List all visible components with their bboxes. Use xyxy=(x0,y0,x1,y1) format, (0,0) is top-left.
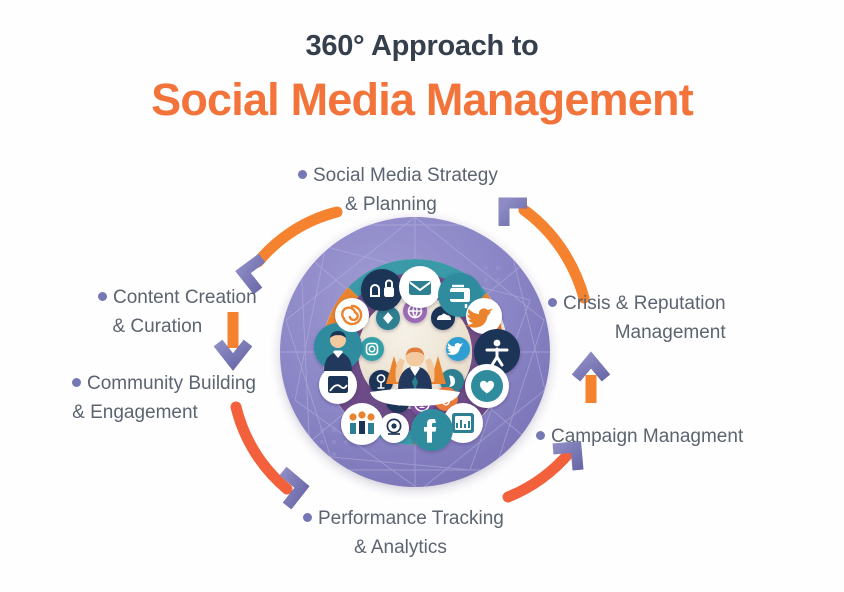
step-label-strategy-line1: Social Media Strategy xyxy=(313,165,498,186)
step-label-campaign-line1: Campaign Managment xyxy=(551,426,743,447)
step-label-community-line1: Community Building xyxy=(87,373,256,394)
bullet-icon xyxy=(72,378,81,387)
step-label-community-line2: & Engagement xyxy=(72,399,256,428)
people-group-icon xyxy=(341,403,383,445)
bullet-icon xyxy=(98,292,107,301)
bullet-icon xyxy=(298,170,307,179)
step-label-performance-line2: & Analytics xyxy=(303,534,504,563)
step-label-campaign[interactable]: Campaign Managment xyxy=(536,423,743,452)
step-label-content[interactable]: Content Creation & Curation xyxy=(98,284,257,341)
twitter-small-icon xyxy=(446,337,470,361)
arrow-performance-to-campaign xyxy=(508,447,578,497)
step-label-strategy-line2: & Planning xyxy=(298,191,498,220)
step-label-performance[interactable]: Performance Tracking & Analytics xyxy=(303,505,504,562)
bullet-icon xyxy=(536,431,545,440)
social-media-hub-graphic xyxy=(280,217,550,490)
spiral-icon xyxy=(335,298,369,332)
step-label-crisis[interactable]: Crisis & Reputation Management xyxy=(548,290,726,347)
heart-icon xyxy=(465,364,509,408)
image-icon xyxy=(319,366,357,404)
arrow-campaign-to-crisis xyxy=(576,360,606,403)
step-label-content-line2: & Curation xyxy=(98,313,257,342)
bullet-icon xyxy=(303,513,312,522)
step-label-content-line1: Content Creation xyxy=(113,287,257,308)
step-label-strategy[interactable]: Social Media Strategy & Planning xyxy=(298,162,498,219)
step-label-crisis-line2: Management xyxy=(548,319,726,348)
step-label-community[interactable]: Community Building & Engagement xyxy=(72,370,256,427)
envelope-icon xyxy=(399,266,441,308)
facebook-icon xyxy=(411,409,453,451)
step-label-performance-line1: Performance Tracking xyxy=(318,508,504,529)
bullet-icon xyxy=(548,298,557,307)
at-sign-icon xyxy=(379,413,409,443)
lock-icon xyxy=(361,269,403,311)
step-label-crisis-line1: Crisis & Reputation xyxy=(563,293,726,314)
twitter-bird-icon xyxy=(466,298,502,334)
instagram-icon xyxy=(360,337,384,361)
